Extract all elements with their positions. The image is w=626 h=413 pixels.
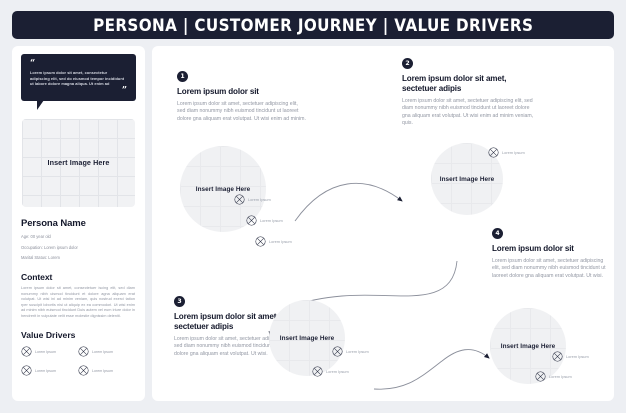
value-driver-label: Lorem Ipsum xyxy=(92,369,113,373)
quote-bubble-wrapper: “ Lorem ipsum dolor sit amet, consectetu… xyxy=(21,54,136,101)
circle-3-tag[interactable]: Lorem Ipsum xyxy=(332,346,369,357)
x-circle-icon xyxy=(535,371,546,382)
page-header-bar: PERSONA | CUSTOMER JOURNEY | VALUE DRIVE… xyxy=(12,11,614,39)
circle-image-label: Insert Image Here xyxy=(280,335,334,342)
x-circle-icon xyxy=(78,365,89,376)
step-number-badge: 4 xyxy=(492,228,503,239)
journey-image-circle-3[interactable]: Insert Image Here xyxy=(269,300,345,376)
journey-step-4: 4 Lorem ipsum dolor sit Lorem ipsum dolo… xyxy=(492,228,610,280)
persona-occupation: Occupation: Lorem ipsum dolor xyxy=(21,245,136,250)
circle-1-tag[interactable]: Lorem Ipsum xyxy=(255,236,292,247)
quote-open-icon: “ xyxy=(30,61,127,68)
persona-image-placeholder-label: Insert Image Here xyxy=(47,158,109,167)
persona-marital-status: Marital Status: Lorem xyxy=(21,255,136,260)
step-number-badge: 1 xyxy=(177,71,188,82)
value-drivers-list: Lorem Ipsum Lorem Ipsum Lorem Ipsum xyxy=(21,346,136,376)
circle-1-tag[interactable]: Lorem Ipsum xyxy=(234,194,271,205)
step-body: Lorem ipsum dolor sit amet, sectetuer ad… xyxy=(177,101,307,123)
quote-tail xyxy=(37,100,44,110)
value-driver-label: Lorem Ipsum xyxy=(35,369,56,373)
circle-tag-label: Lorem Ipsum xyxy=(326,369,349,374)
circle-4-tag[interactable]: Lorem Ipsum xyxy=(552,351,589,362)
value-driver-label: Lorem Ipsum xyxy=(92,350,113,354)
journey-canvas: 1 Lorem ipsum dolor sit Lorem ipsum dolo… xyxy=(152,46,614,401)
x-circle-icon xyxy=(312,366,323,377)
x-circle-icon xyxy=(332,346,343,357)
context-heading: Context xyxy=(21,272,136,282)
value-driver-item[interactable]: Lorem Ipsum xyxy=(21,365,78,376)
x-circle-icon xyxy=(552,351,563,362)
circle-2-tag[interactable]: Lorem Ipsum xyxy=(488,147,525,158)
circle-4-tag[interactable]: Lorem Ipsum xyxy=(535,371,572,382)
x-circle-icon xyxy=(488,147,499,158)
circle-tag-label: Lorem Ipsum xyxy=(248,197,271,202)
quote-close-icon: ” xyxy=(30,88,127,95)
circle-3-tag[interactable]: Lorem Ipsum xyxy=(312,366,349,377)
persona-quote-bubble: “ Lorem ipsum dolor sit amet, consectetu… xyxy=(21,54,136,101)
circle-image-label: Insert Image Here xyxy=(196,186,250,193)
persona-quote-text: Lorem ipsum dolor sit amet, consectetur … xyxy=(30,70,127,87)
step-title: Lorem ipsum dolor sit xyxy=(492,244,610,254)
circle-image-label: Insert Image Here xyxy=(501,343,555,350)
customer-journey-panel: 1 Lorem ipsum dolor sit Lorem ipsum dolo… xyxy=(152,46,614,401)
step-number-badge: 3 xyxy=(174,296,185,307)
persona-age: Age: 00 year old xyxy=(21,234,136,239)
value-driver-item[interactable]: Lorem Ipsum xyxy=(78,365,135,376)
value-driver-item[interactable]: Lorem Ipsum xyxy=(21,346,78,357)
x-circle-icon xyxy=(21,346,32,357)
circle-1-tag[interactable]: Lorem Ipsum xyxy=(246,215,283,226)
step-title: Lorem ipsum dolor sit amet, sectetuer ad… xyxy=(402,74,538,94)
x-circle-icon xyxy=(246,215,257,226)
circle-tag-label: Lorem Ipsum xyxy=(260,218,283,223)
step-number-badge: 2 xyxy=(402,58,413,69)
x-circle-icon xyxy=(255,236,266,247)
value-drivers-heading: Value Drivers xyxy=(21,330,136,340)
persona-name: Persona Name xyxy=(21,218,136,229)
step-body: Lorem ipsum dolor sit amet, sectetuer ad… xyxy=(402,98,538,128)
step-body: Lorem ipsum dolor sit amet, sectetuer ad… xyxy=(492,258,610,280)
circle-tag-label: Lorem Ipsum xyxy=(502,150,525,155)
x-circle-icon xyxy=(234,194,245,205)
context-body: Lorem ipsum dolor sit amet, consectetuer… xyxy=(21,286,135,319)
circle-tag-label: Lorem Ipsum xyxy=(566,354,589,359)
infographic-page: PERSONA | CUSTOMER JOURNEY | VALUE DRIVE… xyxy=(0,0,626,413)
persona-image-placeholder[interactable]: Insert Image Here xyxy=(22,119,135,207)
circle-image-label: Insert Image Here xyxy=(440,176,494,183)
x-circle-icon xyxy=(78,346,89,357)
value-driver-label: Lorem Ipsum xyxy=(35,350,56,354)
persona-sidebar-panel: “ Lorem ipsum dolor sit amet, consectetu… xyxy=(12,46,145,401)
journey-step-1: 1 Lorem ipsum dolor sit Lorem ipsum dolo… xyxy=(177,71,307,123)
x-circle-icon xyxy=(21,365,32,376)
arrow-step1-to-step2 xyxy=(295,183,402,221)
step-title: Lorem ipsum dolor sit xyxy=(177,87,307,97)
value-driver-item[interactable]: Lorem Ipsum xyxy=(78,346,135,357)
circle-tag-label: Lorem Ipsum xyxy=(549,374,572,379)
circle-tag-label: Lorem Ipsum xyxy=(346,349,369,354)
arrow-step3-to-step4 xyxy=(374,350,489,390)
circle-tag-label: Lorem Ipsum xyxy=(269,239,292,244)
journey-step-2: 2 Lorem ipsum dolor sit amet, sectetuer … xyxy=(402,58,538,128)
page-title: PERSONA | CUSTOMER JOURNEY | VALUE DRIVE… xyxy=(93,16,533,35)
